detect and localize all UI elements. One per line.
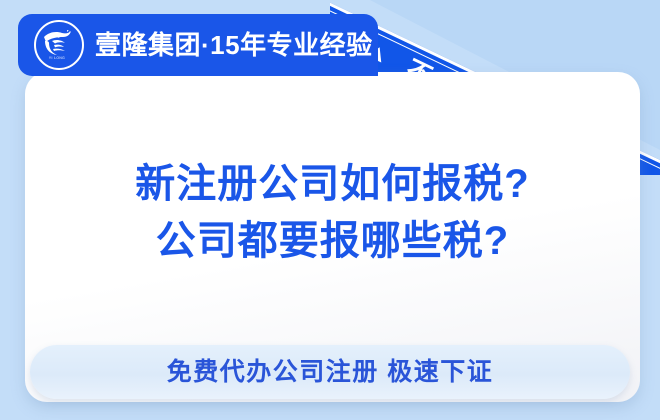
dragon-emblem-icon: YI LONG xyxy=(34,20,84,70)
cta-pill[interactable]: 免费代办公司注册 极速下证 xyxy=(30,345,630,399)
cta-pill-text: 免费代办公司注册 极速下证 xyxy=(167,360,493,385)
brand-title: 壹隆集团·15年专业经验 xyxy=(95,32,373,58)
poster-canvas: 不成功 不收费 新注册公司如何报税? 公司都要报哪些税? YI LONG xyxy=(0,0,660,420)
svg-text:YI LONG: YI LONG xyxy=(49,56,65,60)
page-title: 新注册公司如何报税? 公司都要报哪些税? xyxy=(25,156,640,270)
title-line-1: 新注册公司如何报税? xyxy=(25,156,640,213)
brand-header-bar: YI LONG 壹隆集团·15年专业经验 xyxy=(18,14,378,76)
title-line-2: 公司都要报哪些税? xyxy=(25,213,640,270)
